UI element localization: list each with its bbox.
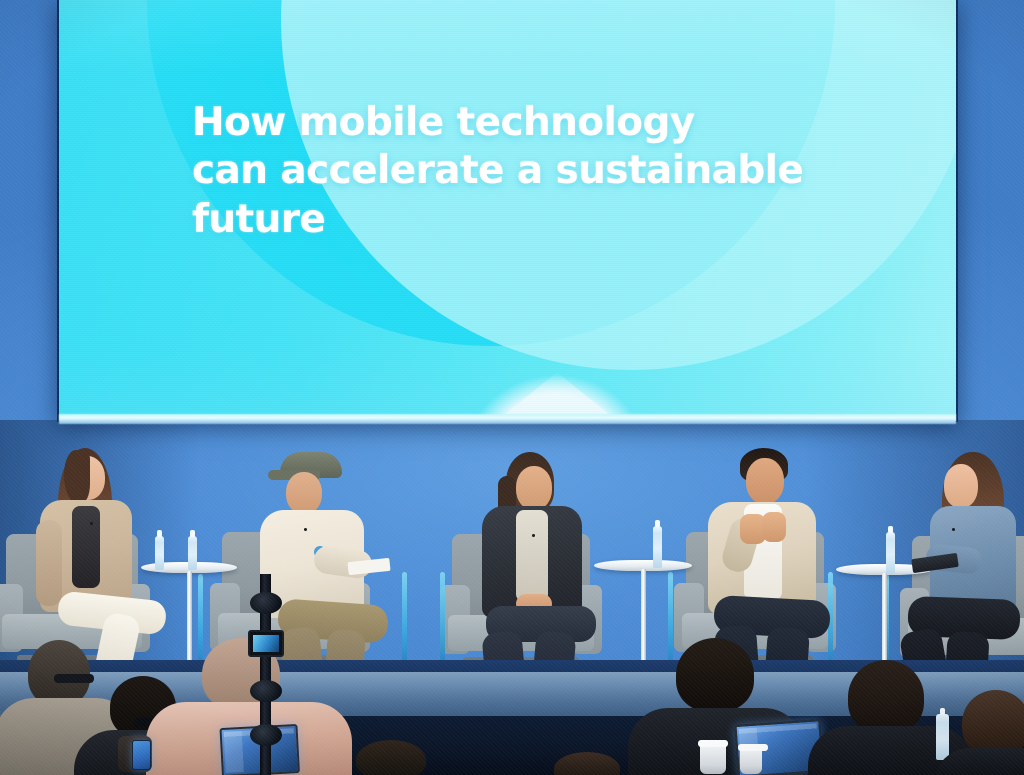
panelist-shirt [516, 510, 548, 602]
audience-water-bottle [936, 714, 949, 760]
audience-head [356, 740, 426, 775]
panelist-top [72, 506, 100, 588]
side-table-stem [641, 569, 646, 667]
audience-member-8 [540, 752, 650, 775]
audience-member-7 [336, 740, 456, 775]
panelist-hair-front [64, 450, 90, 504]
camera-monitor-rig [242, 574, 288, 775]
coffee-cup [740, 748, 762, 774]
lapel-mic [952, 528, 955, 531]
lapel-mic [90, 522, 93, 525]
camera-stand-knob [250, 680, 282, 702]
audience-head [962, 690, 1024, 756]
panelist-head [746, 458, 784, 504]
camera-monitor-screen[interactable] [248, 630, 284, 657]
audience-member-6 [952, 690, 1024, 775]
panelist-head [944, 464, 978, 508]
led-presentation-screen: How mobile technology can accelerate a s… [59, 0, 956, 421]
camera-stand-knob [250, 592, 282, 614]
eyeglasses-icon [54, 674, 94, 683]
panelist-head [286, 472, 322, 514]
lapel-mic [532, 534, 535, 537]
panelist-arm [36, 520, 62, 606]
audience-phone-screen[interactable] [132, 740, 151, 770]
panelist-hand-gesturing [762, 512, 786, 542]
panelist-head [516, 466, 552, 510]
slide-headline: How mobile technology can accelerate a s… [192, 99, 912, 244]
audience-head [554, 752, 620, 775]
lapel-mic [304, 528, 307, 531]
screen-bottom-edge-glow [59, 414, 956, 424]
audience-head [676, 638, 754, 712]
water-bottle [188, 536, 197, 570]
camera-stand-knob [250, 724, 282, 746]
conference-photo-scene: How mobile technology can accelerate a s… [0, 0, 1024, 775]
water-bottle [653, 526, 662, 568]
audience-head [28, 640, 90, 706]
water-bottle [886, 532, 895, 574]
side-table-stem [882, 573, 887, 667]
coffee-cup [700, 744, 726, 774]
audience-head [848, 660, 924, 734]
